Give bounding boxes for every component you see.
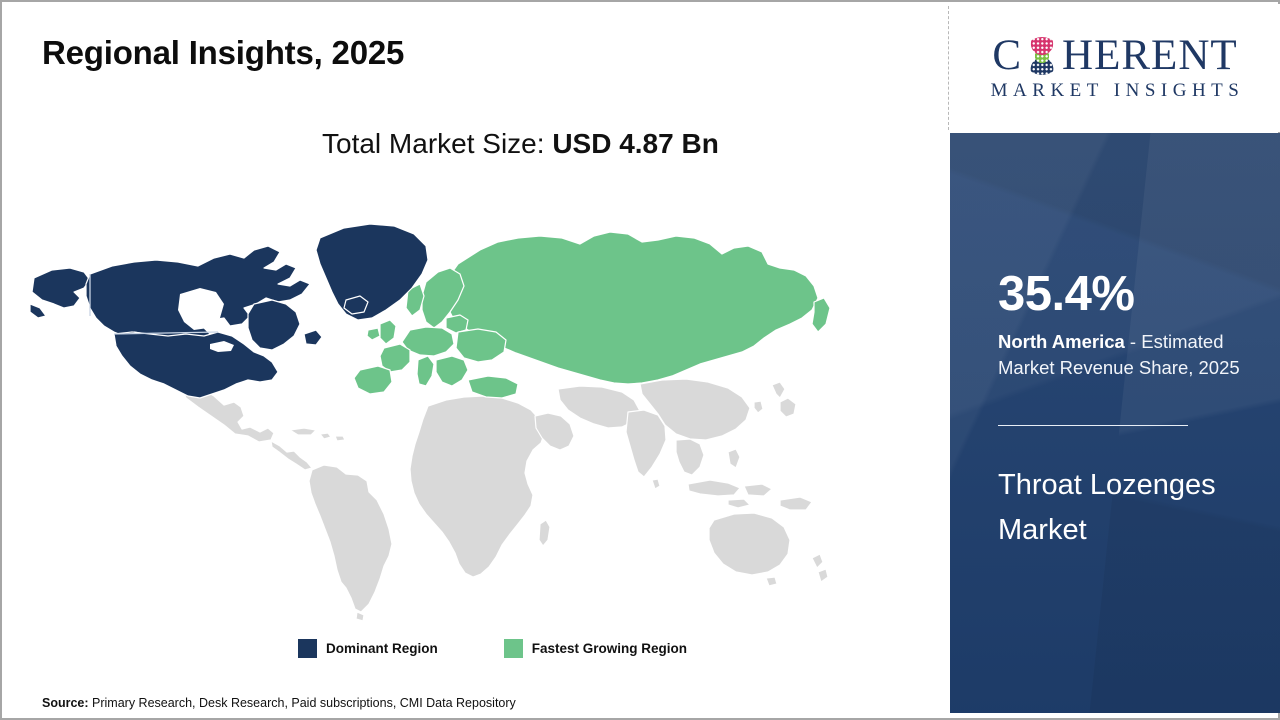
right-info-panel: 35.4% North America - Estimated Market R… — [950, 133, 1280, 713]
source-label: Source: — [42, 696, 89, 710]
globe-ring — [1023, 37, 1061, 75]
legend-label-fastest-growing: Fastest Growing Region — [532, 641, 687, 656]
panel-divider-rule — [998, 425, 1188, 426]
slide-root: Regional Insights, 2025 Total Market Siz… — [0, 0, 1280, 720]
legend-item-dominant: Dominant Region — [298, 639, 438, 658]
stat-block: 35.4% North America - Estimated Market R… — [998, 270, 1260, 382]
fastest-growing-swatch-icon — [504, 639, 523, 658]
stat-value: 35.4% — [998, 270, 1260, 319]
brand-logo: C HERENT MARKET INSIGHTS — [950, 4, 1280, 132]
source-note: Source: Primary Research, Desk Research,… — [42, 696, 516, 710]
source-text: Primary Research, Desk Research, Paid su… — [89, 696, 516, 710]
dominant-swatch-icon — [298, 639, 317, 658]
vertical-dashed-divider — [948, 6, 949, 130]
legend-label-dominant: Dominant Region — [326, 641, 438, 656]
market-name: Throat Lozenges Market — [998, 463, 1238, 553]
logo-wordmark: C HERENT — [992, 34, 1237, 77]
world-map — [28, 184, 838, 624]
total-market-size-label: Total Market Size: — [322, 128, 552, 159]
map-neutral-regions — [180, 379, 828, 621]
stat-description: North America - Estimated Market Revenue… — [998, 329, 1260, 382]
logo-subtitle: MARKET INSIGHTS — [991, 80, 1245, 102]
map-legend: Dominant Region Fastest Growing Region — [298, 639, 687, 658]
logo-letters-herent: HERENT — [1062, 34, 1238, 77]
left-content-pane: Regional Insights, 2025 Total Market Siz… — [2, 2, 949, 718]
stat-region-name: North America — [998, 331, 1125, 352]
dotted-globe-icon — [1023, 37, 1061, 75]
legend-item-fastest-growing: Fastest Growing Region — [504, 639, 687, 658]
total-market-size-value: USD 4.87 Bn — [552, 128, 719, 159]
page-title: Regional Insights, 2025 — [42, 34, 404, 72]
logo-letter-c: C — [992, 34, 1022, 77]
world-map-svg — [28, 184, 838, 624]
total-market-size: Total Market Size: USD 4.87 Bn — [322, 128, 719, 160]
